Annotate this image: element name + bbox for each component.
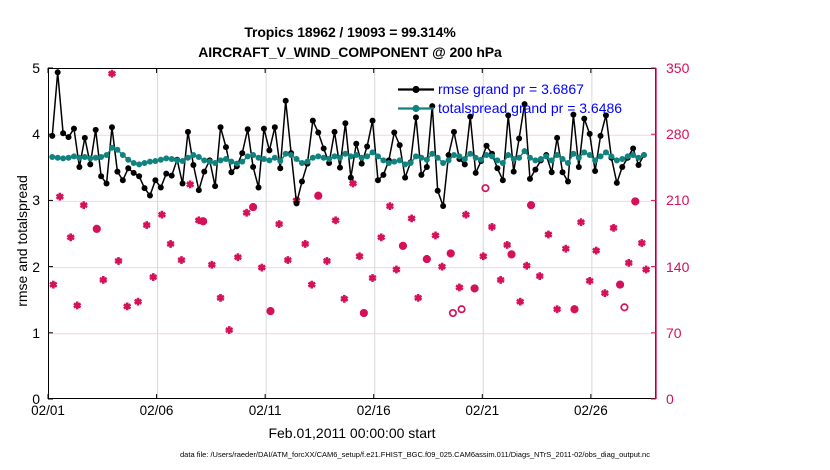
plot-figure: Tropics 18962 / 19093 = 99.314% AIRCRAFT…: [0, 0, 830, 470]
chart-title-line-1: Tropics 18962 / 19093 = 99.314%: [0, 22, 700, 42]
legend-item-totalspread: totalspread grand pr = 3.6486: [396, 99, 626, 118]
plot-clip: [49, 69, 655, 398]
legend-label-totalspread: totalspread grand pr = 3.6486: [438, 100, 622, 116]
x-axis-title: Feb.01,2011 00:00:00 start: [48, 425, 656, 441]
y-tick-label-right-0: 0: [666, 391, 706, 407]
x-tick-label-02-16: 02/16: [344, 403, 404, 418]
y-tick-label-right-70: 70: [666, 325, 706, 341]
y-tick-label-right-350: 350: [666, 60, 706, 76]
y-axis-left-title: rmse and totalspread: [14, 71, 30, 411]
chart-title: Tropics 18962 / 19093 = 99.314% AIRCRAFT…: [0, 22, 700, 62]
x-tick-label-02-06: 02/06: [127, 403, 187, 418]
data-file-footnote: data file: /Users/raeder/DAI/ATM_forcXX/…: [0, 450, 830, 459]
legend-item-rmse: rmse grand pr = 3.6867: [396, 80, 626, 99]
chart-title-line-2: AIRCRAFT_V_WIND_COMPONENT @ 200 hPa: [0, 42, 700, 62]
plot-canvas: [49, 69, 655, 398]
x-tick-label-02-26: 02/26: [561, 403, 621, 418]
chart-legend: rmse grand pr = 3.6867 totalspread grand…: [396, 80, 626, 118]
legend-label-rmse: rmse grand pr = 3.6867: [438, 81, 584, 97]
legend-marker-rmse-icon: [396, 80, 436, 99]
legend-marker-totalspread-icon: [396, 99, 436, 118]
x-tick-label-02-11: 02/11: [235, 403, 295, 418]
y-tick-label-right-210: 210: [666, 192, 706, 208]
gridlines: [49, 69, 655, 398]
y-tick-label-right-280: 280: [666, 126, 706, 142]
y-tick-label-right-140: 140: [666, 259, 706, 275]
x-tick-label-02-21: 02/21: [452, 403, 512, 418]
obs-possible-markers: [94, 185, 639, 316]
